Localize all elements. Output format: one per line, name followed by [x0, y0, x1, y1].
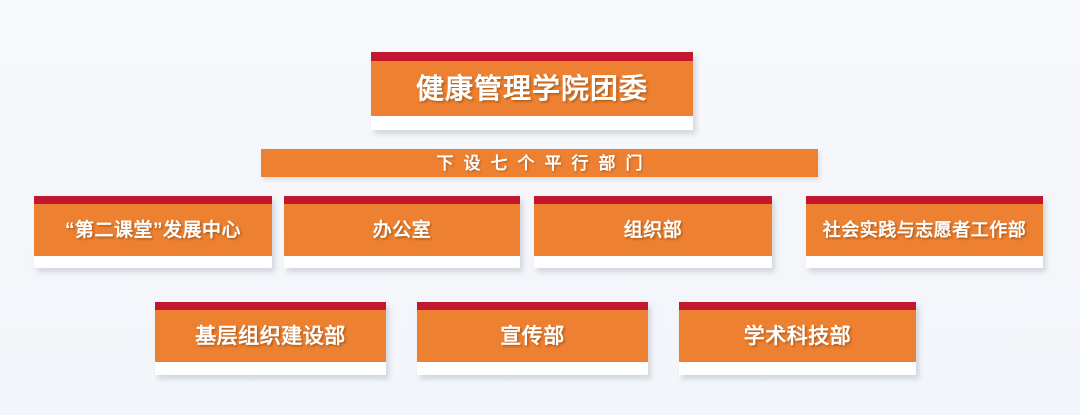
node-bottom-strip	[806, 256, 1043, 268]
node-bottom-strip	[534, 256, 772, 268]
org-node-root-label: 健康管理学院团委	[416, 75, 648, 103]
org-node-department-6-label: 学术科技部	[744, 326, 852, 347]
node-body: “第二课堂”发展中心	[34, 204, 272, 256]
node-bottom-strip	[679, 362, 916, 375]
node-top-stripe	[534, 196, 772, 204]
node-bottom-strip	[155, 362, 386, 375]
org-node-department-5-label: 宣传部	[500, 326, 565, 347]
org-subtitle-band: 下设七个平行部门	[261, 149, 818, 177]
org-node-department-6[interactable]: 学术科技部	[679, 302, 916, 375]
node-top-stripe	[371, 52, 693, 61]
org-node-department-2[interactable]: 组织部	[534, 196, 772, 268]
node-body: 社会实践与志愿者工作部	[806, 204, 1043, 256]
node-body: 宣传部	[417, 310, 648, 362]
org-node-department-1-label: 办公室	[373, 221, 432, 240]
org-node-department-3[interactable]: 社会实践与志愿者工作部	[806, 196, 1043, 268]
node-top-stripe	[679, 302, 916, 310]
org-node-department-2-label: 组织部	[624, 221, 683, 240]
node-body: 基层组织建设部	[155, 310, 386, 362]
node-body: 办公室	[284, 204, 520, 256]
org-node-department-1[interactable]: 办公室	[284, 196, 520, 268]
node-bottom-strip	[34, 256, 272, 268]
org-chart: 健康管理学院团委 下设七个平行部门 “第二课堂”发展中心 办公室 组织部 社会实…	[0, 0, 1080, 415]
org-node-department-5[interactable]: 宣传部	[417, 302, 648, 375]
org-node-department-0[interactable]: “第二课堂”发展中心	[34, 196, 272, 268]
org-node-department-4[interactable]: 基层组织建设部	[155, 302, 386, 375]
node-bottom-strip	[371, 116, 693, 130]
node-body: 学术科技部	[679, 310, 916, 362]
node-body: 健康管理学院团委	[371, 61, 693, 116]
org-node-department-4-label: 基层组织建设部	[195, 326, 346, 347]
node-body: 组织部	[534, 204, 772, 256]
node-top-stripe	[417, 302, 648, 310]
node-top-stripe	[806, 196, 1043, 204]
node-bottom-strip	[284, 256, 520, 268]
node-top-stripe	[34, 196, 272, 204]
node-bottom-strip	[417, 362, 648, 375]
node-top-stripe	[155, 302, 386, 310]
org-node-root[interactable]: 健康管理学院团委	[371, 52, 693, 130]
org-subtitle-label: 下设七个平行部门	[427, 155, 653, 172]
org-node-department-0-label: “第二课堂”发展中心	[65, 221, 241, 240]
node-top-stripe	[284, 196, 520, 204]
org-node-department-3-label: 社会实践与志愿者工作部	[823, 221, 1027, 239]
